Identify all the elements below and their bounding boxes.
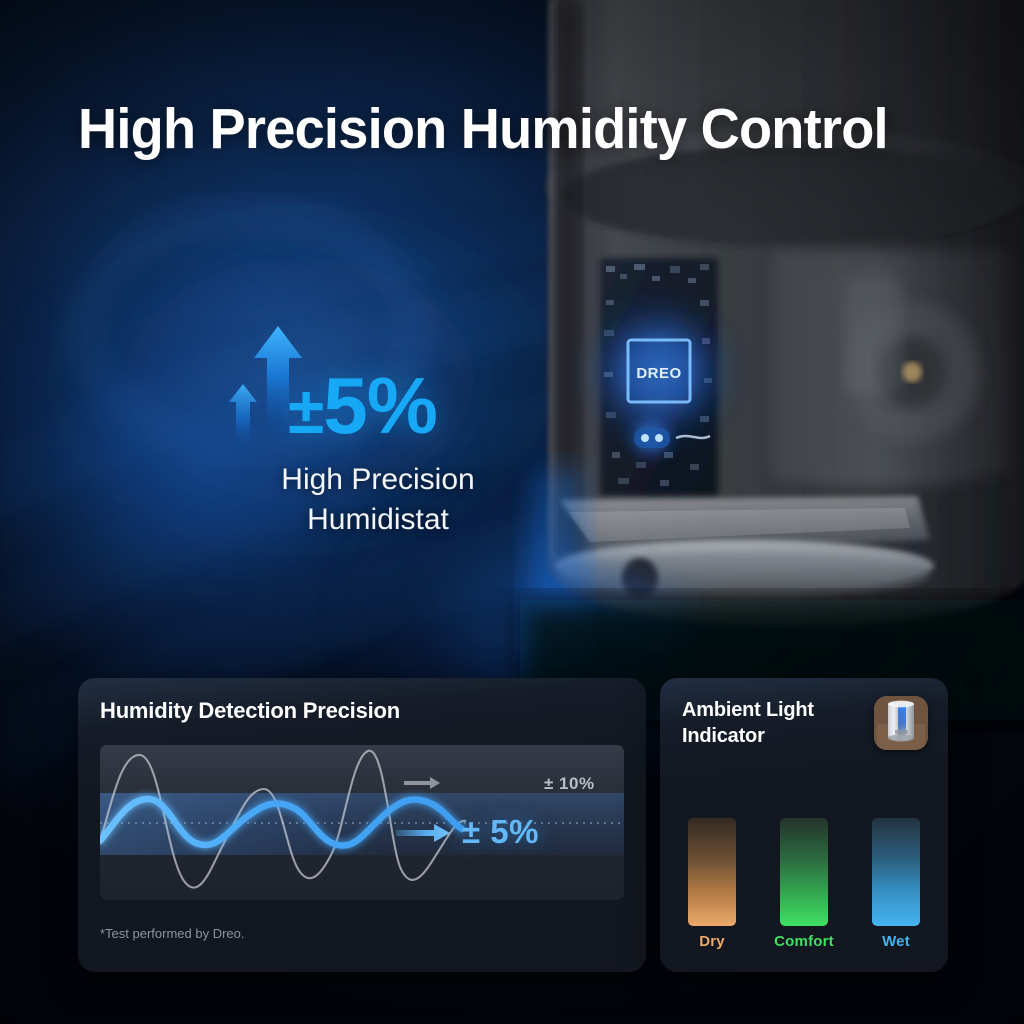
ambient-bar-comfort-label: Comfort — [774, 933, 834, 950]
precision-footnote: *Test performed by Dreo. — [100, 926, 245, 941]
page-title: High Precision Humidity Control — [78, 96, 888, 162]
precision-subtitle-line2: Humidistat — [216, 500, 540, 540]
plus-minus-symbol: ± — [288, 373, 323, 447]
highlight-precision-label: ± 5% — [462, 813, 539, 851]
small-up-arrow — [229, 384, 257, 454]
ambient-bar-dry: Dry — [688, 818, 736, 950]
humidity-precision-card: Humidity Detection Precision — [78, 678, 646, 972]
ambient-bar-comfort-fill — [780, 818, 828, 926]
humidity-precision-card-title: Humidity Detection Precision — [100, 698, 400, 724]
baseline-precision-label: ± 10% — [544, 774, 595, 794]
precision-chart — [100, 745, 624, 900]
precision-value: ±5% — [288, 366, 437, 446]
ambient-bar-wet-fill — [872, 818, 920, 926]
precision-subtitle-line1: High Precision — [216, 460, 540, 500]
precision-subtitle: High Precision Humidistat — [216, 460, 540, 540]
ambient-bar-wet: Wet — [872, 818, 920, 950]
percent-symbol: % — [367, 361, 437, 450]
ambient-bar-wet-label: Wet — [882, 933, 910, 950]
ambient-bar-dry-fill — [688, 818, 736, 926]
ambient-light-title-line1: Ambient Light — [682, 698, 852, 724]
ambient-light-title-line2: Indicator — [682, 724, 852, 750]
humidifier-product-thumbnail — [874, 696, 928, 750]
product-feature-graphic: DREO High Precision Humidity Control — [0, 0, 1024, 1024]
precision-chart-waves — [100, 745, 624, 900]
ambient-light-card: Ambient Light Indicator — [660, 678, 948, 972]
ambient-light-card-title: Ambient Light Indicator — [682, 698, 852, 749]
precision-number: 5 — [323, 361, 367, 450]
ambient-light-bars: Dry Comfort Wet — [688, 818, 920, 950]
ambient-bar-dry-label: Dry — [699, 933, 725, 950]
ambient-bar-comfort: Comfort — [780, 818, 828, 950]
